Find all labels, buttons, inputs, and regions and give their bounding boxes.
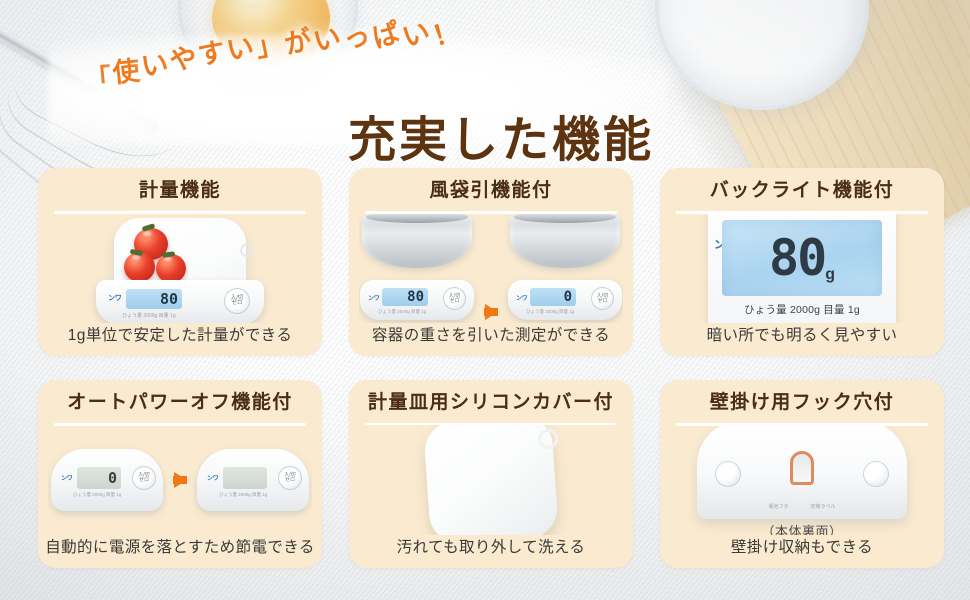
lcd-display: 80 <box>769 233 825 283</box>
feature-card-wall-hook: 壁掛け用フック穴付 電池フタ 定格ラベル （本体裏面） 壁掛 <box>660 380 944 568</box>
lcd-display-on: 0 <box>77 467 121 489</box>
feature-card-backlight: バックライト機能付 ンワ 80 g ひょう量 2000g 目量 1g 暗い所でも… <box>660 168 944 356</box>
lcd-display: 80 <box>126 289 182 309</box>
card-caption: 暗い所でも明るく見やすい <box>707 323 898 345</box>
infographic-stage: 「使いやすい」がいっぱい！ 充実した機能 計量機能 <box>0 0 970 600</box>
card-figure-silicone-cover <box>359 425 623 535</box>
brand-logo: ンワ <box>108 293 121 303</box>
button-line-2: ゼロ <box>285 478 295 483</box>
power-zero-button[interactable]: 入/切 ゼロ <box>132 466 156 490</box>
card-caption: 汚れても取り外して洗える <box>397 535 586 557</box>
backlit-panel: ンワ 80 g ひょう量 2000g 目量 1g <box>708 214 896 323</box>
lcd-screen: 80 g <box>722 220 882 296</box>
button-line-2: ゼロ <box>139 478 149 483</box>
feature-card-silicone-cover: 計量皿用シリコンカバー付 汚れても取り外して洗える <box>349 380 633 568</box>
mixing-bowl <box>510 216 620 268</box>
back-label-battery: 電池フタ <box>768 503 788 510</box>
lcd-display-before: 80 <box>382 288 428 306</box>
scale-spec-text: ひょう量 2000g 目量 1g <box>73 492 121 498</box>
scale-after: ンワ 0 ひょう量 2000g 目量 1g 入/切 ゼロ <box>508 216 622 320</box>
power-zero-button[interactable]: 入/切 ゼロ <box>278 466 302 490</box>
button-line-2: ゼロ <box>231 301 242 307</box>
scale-before: ンワ 80 ひょう量 2000g 目量 1g 入/切 ゼロ <box>360 216 474 320</box>
card-caption: 容器の重さを引いた測定ができる <box>372 323 610 345</box>
tare-arrow <box>474 304 508 320</box>
feature-card-auto-power-off: オートパワーオフ機能付 ンワ 0 ひょう量 2000g 目量 1g 入/切 ゼロ <box>38 380 322 568</box>
card-caption: 壁掛け収納もできる <box>731 535 873 557</box>
brand-logo: ンワ <box>368 293 379 302</box>
scale-spec-text: ひょう量 2000g 目量 1g <box>378 309 426 315</box>
scale-body: ンワ 0 ひょう量 2000g 目量 1g 入/切 ゼロ <box>51 449 163 511</box>
card-figure-unit-back: 電池フタ 定格ラベル （本体裏面） <box>670 426 934 535</box>
brand-logo: ンワ <box>207 473 218 482</box>
scale-spec-text: ひょう量 2000g 目量 1g <box>219 492 267 498</box>
power-zero-button[interactable]: 入/切 ゼロ <box>224 288 250 314</box>
scale-body: ンワ 0 ひょう量 2000g 目量 1g 入/切 ゼロ <box>508 280 622 320</box>
kitchen-scale: ンワ 80 ひょう量 2000g 目量 1g 入/切 ゼロ <box>82 214 278 323</box>
card-title: オートパワーオフ機能付 <box>67 392 293 415</box>
feature-card-grid: 計量機能 ンワ 80 ひょう量 2000g 目量 1g <box>38 168 932 574</box>
button-line-2: ゼロ <box>449 299 459 304</box>
scale-spec-text: ひょう量 2000g 目量 1g <box>526 309 574 315</box>
scale-body: ンワ ひょう量 2000g 目量 1g 入/切 ゼロ <box>197 449 309 511</box>
platter-tab <box>240 244 253 257</box>
scale-powered-on: ンワ 0 ひょう量 2000g 目量 1g 入/切 ゼロ <box>51 449 163 511</box>
brand-logo: ンワ <box>516 293 527 302</box>
back-labels: 電池フタ 定格ラベル <box>768 503 835 510</box>
kicker-char: 使 <box>110 48 143 90</box>
feature-card-tare: 風袋引機能付 ンワ 80 ひょう量 2000g 目量 1g 入/切 ゼロ <box>349 168 633 356</box>
power-off-arrow <box>163 472 197 488</box>
card-figure-tare-comparison: ンワ 80 ひょう量 2000g 目量 1g 入/切 ゼロ <box>359 214 623 323</box>
scale-powered-off: ンワ ひょう量 2000g 目量 1g 入/切 ゼロ <box>197 449 309 511</box>
mixing-bowl <box>362 216 472 268</box>
card-figure-power-off-comparison: ンワ 0 ひょう量 2000g 目量 1g 入/切 ゼロ <box>48 426 312 535</box>
card-title: バックライト機能付 <box>710 180 895 203</box>
button-line-2: ゼロ <box>597 299 607 304</box>
brand-logo: ンワ <box>61 473 72 482</box>
scale-spec-text: ひょう量 2000g 目量 1g <box>122 312 176 319</box>
scale-body: ンワ 80 ひょう量 2000g 目量 1g 入/切 ゼロ <box>96 280 264 323</box>
silicone-cover <box>423 425 559 535</box>
card-figure-scale-with-tomatoes: ンワ 80 ひょう量 2000g 目量 1g 入/切 ゼロ <box>48 214 312 323</box>
card-caption: 1g単位で安定した計量ができる <box>68 323 292 345</box>
hook-hole-icon <box>790 451 814 485</box>
lcd-unit: g <box>825 266 835 284</box>
card-title: 計量皿用シリコンカバー付 <box>368 392 614 415</box>
kicker-char: 「 <box>82 56 115 98</box>
rubber-foot-left <box>715 461 741 487</box>
card-figure-backlit-display: ンワ 80 g ひょう量 2000g 目量 1g <box>670 214 934 323</box>
lcd-display-off <box>223 467 267 489</box>
lcd-display-after: 0 <box>530 288 576 306</box>
power-zero-button[interactable]: 入/切 ゼロ <box>443 287 466 310</box>
feature-card-measuring: 計量機能 ンワ 80 ひょう量 2000g 目量 1g <box>38 168 322 356</box>
figure-sub-caption: （本体裏面） <box>761 521 842 535</box>
rubber-foot-right <box>863 461 889 487</box>
power-zero-button[interactable]: 入/切 ゼロ <box>591 287 614 310</box>
back-label-rating: 定格ラベル <box>811 503 836 510</box>
card-caption: 自動的に電源を落とすため節電できる <box>45 535 315 557</box>
card-title: 計量機能 <box>139 180 221 203</box>
right-arrow-icon <box>174 472 187 488</box>
card-title: 風袋引機能付 <box>429 180 552 203</box>
right-arrow-icon <box>485 304 498 320</box>
unit-back-plate: 電池フタ 定格ラベル <box>697 426 907 519</box>
scale-spec-text: ひょう量 2000g 目量 1g <box>744 302 860 317</box>
page-title: 充実した機能 <box>348 100 654 170</box>
card-title: 壁掛け用フック穴付 <box>710 392 895 415</box>
headline: 「使いやすい」がいっぱい！ 充実した機能 <box>0 28 970 148</box>
scale-body: ンワ 80 ひょう量 2000g 目量 1g 入/切 ゼロ <box>360 280 474 320</box>
